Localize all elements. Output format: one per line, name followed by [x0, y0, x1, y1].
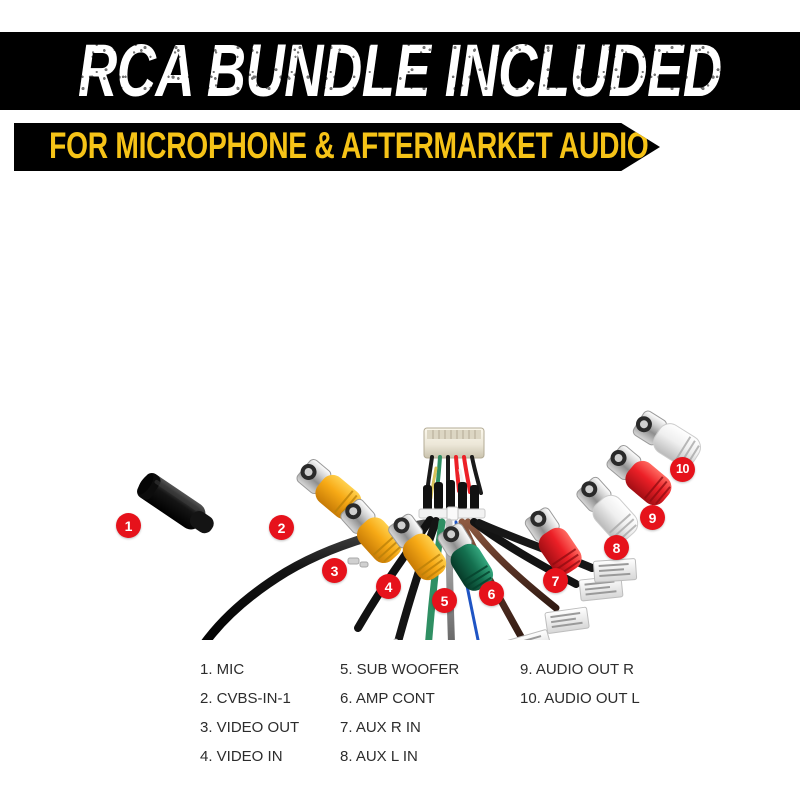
- legend-item-4: 4. VIDEO IN: [200, 742, 299, 771]
- connector-1-mic: [133, 470, 219, 541]
- legend-column-2: 5. SUB WOOFER 6. AMP CONT 7. AUX R IN 8.…: [340, 655, 459, 771]
- multipin-connector-plug: [424, 428, 484, 458]
- callout-badge-6: 6: [479, 581, 504, 606]
- callout-badge-7: 7: [543, 568, 568, 593]
- secondary-banner: FOR MICROPHONE & AFTERMARKET AUDIO: [14, 123, 660, 171]
- legend: 1. MIC 2. CVBS-IN-1 3. VIDEO OUT 4. VIDE…: [0, 655, 800, 775]
- callout-badge-9: 9: [640, 505, 665, 530]
- legend-item-7: 7. AUX R IN: [340, 713, 459, 742]
- callout-badge-8: 8: [604, 535, 629, 560]
- loose-ferrule-bits: [348, 558, 368, 567]
- legend-item-3: 3. VIDEO OUT: [200, 713, 299, 742]
- callout-badge-3: 3: [322, 558, 347, 583]
- callout-badge-1: 1: [116, 513, 141, 538]
- primary-banner-text: RCA BUNDLE INCLUDED: [78, 34, 722, 108]
- legend-item-6: 6. AMP CONT: [340, 684, 459, 713]
- legend-item-8: 8. AUX L IN: [340, 742, 459, 771]
- wiring-harness-illustration: [0, 180, 800, 640]
- secondary-banner-text: FOR MICROPHONE & AFTERMARKET AUDIO: [49, 129, 648, 166]
- product-photo: [0, 180, 800, 640]
- callout-badge-5: 5: [432, 588, 457, 613]
- legend-item-9: 9. AUDIO OUT R: [520, 655, 640, 684]
- legend-item-10: 10. AUDIO OUT L: [520, 684, 640, 713]
- legend-column-3: 9. AUDIO OUT R 10. AUDIO OUT L: [520, 655, 640, 713]
- primary-banner: RCA BUNDLE INCLUDED: [0, 32, 800, 110]
- legend-item-5: 5. SUB WOOFER: [340, 655, 459, 684]
- callout-badge-2: 2: [269, 515, 294, 540]
- legend-item-1: 1. MIC: [200, 655, 299, 684]
- legend-column-1: 1. MIC 2. CVBS-IN-1 3. VIDEO OUT 4. VIDE…: [200, 655, 299, 771]
- callout-badge-10: 10: [670, 457, 695, 482]
- callout-badge-4: 4: [376, 574, 401, 599]
- legend-item-2: 2. CVBS-IN-1: [200, 684, 299, 713]
